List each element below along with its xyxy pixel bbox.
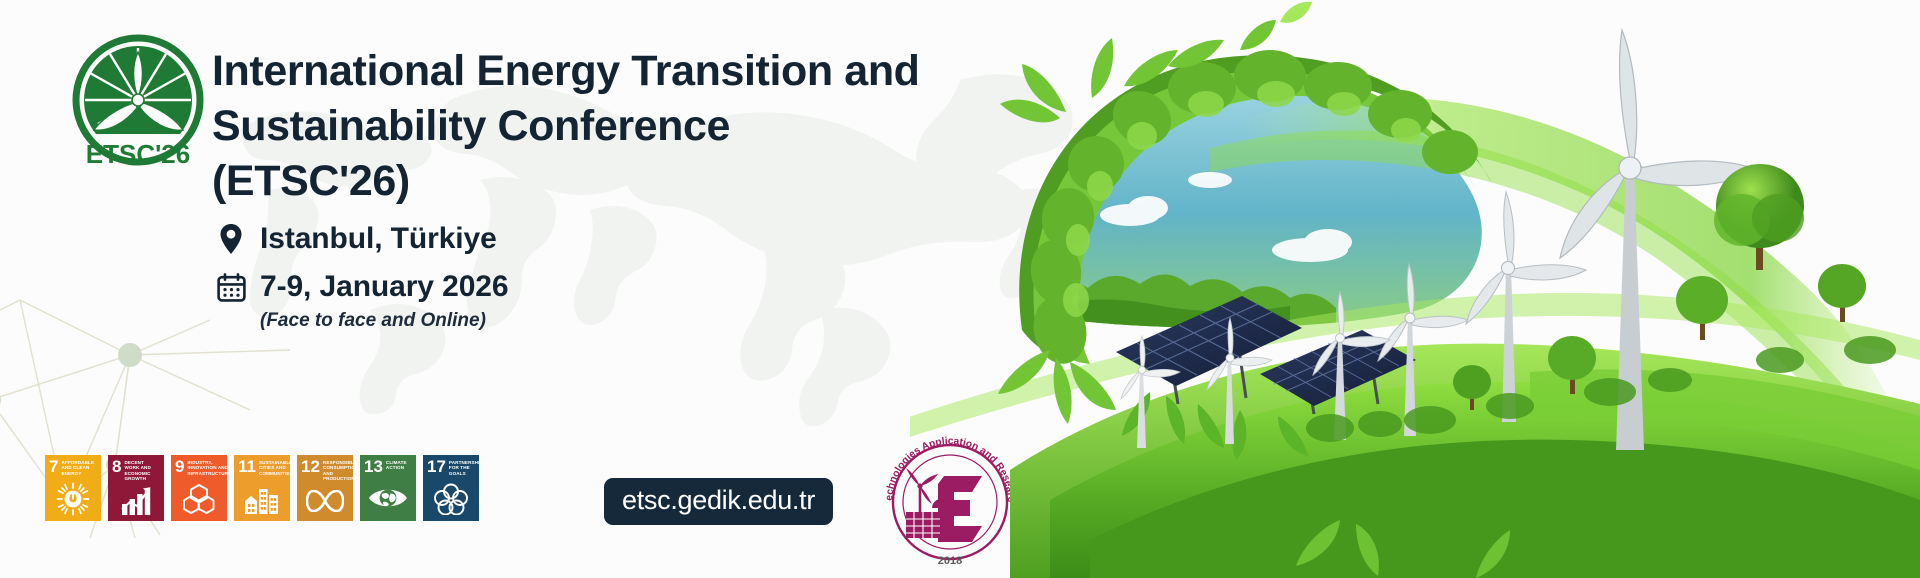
wind-turbine-far-1 [1207,318,1272,444]
foreground-foliage [1296,520,1510,578]
gedik-ring-text-top: İstanbul Gedik University [1053,430,1168,469]
etsc-logo-text: ETSC'26 [86,139,190,169]
cubes-icon [175,476,223,521]
green-light-streak [1240,97,1920,520]
sdg-label: CLIMATE ACTION [386,459,412,471]
wind-turbine-mid-3 [1313,292,1390,440]
format-note: (Face to face and Online) [260,310,508,332]
sdg-goal-8: 8 DECENT WORK AND ECONOMIC GROWTH [108,455,164,521]
sdg-goal-7: 7 AFFORDABLE AND CLEAN ENERGY [45,455,101,521]
energy-technologies-application-and-research-center-logo: Energy Technologies Application and Rese… [876,424,1024,572]
trees [1306,164,1896,442]
interlocking-circles-icon [427,476,475,521]
solar-panel-2 [1260,330,1416,406]
sdg-goals-row: 7 AFFORDABLE AND CLEAN ENERGY [45,455,479,521]
solar-panel-array [1116,296,1416,414]
title-line-1: International Energy Transition and [212,44,952,99]
sun-power-icon [49,476,97,521]
infinity-icon [301,482,349,521]
sdg-number: 7 [49,459,58,475]
sdg-label: AFFORDABLE AND CLEAN ENERGY [61,459,97,476]
website-url-badge[interactable]: etsc.gedik.edu.tr [604,478,833,525]
sdg-number: 12 [301,459,320,475]
date-text: 7-9, January 2026 [260,270,508,304]
wind-turbine-mid-1 [1466,192,1586,422]
sdg-label: DECENT WORK AND ECONOMIC GROWTH [124,459,160,482]
title-line-2: Sustainability Conference [212,99,952,154]
gedik-g-monogram [1086,464,1136,525]
solar-panel-1 [1116,296,1302,386]
page-title: International Energy Transition and Sust… [212,44,952,209]
sdg-label: SUSTAINABLE CITIES AND COMMUNITIES [259,459,293,476]
growth-chart-icon [112,482,160,521]
wind-turbine-mid-2 [1378,264,1468,436]
sdg-number: 8 [112,459,121,475]
sdg-number: 9 [175,459,184,475]
calendar-icon [216,270,246,304]
sdg-goal-12: 12 RESPONSIBLE CONSUMPTION AND PRODUCTIO… [297,455,353,521]
eye-globe-icon [364,475,412,521]
svg-text:İstanbul Gedik University: İstanbul Gedik University [1053,430,1168,469]
istanbul-gedik-university-logo: İstanbul Gedik University İstanbul Gedik… [1036,420,1186,570]
sdg-goal-11: 11 SUSTAINABLE CITIES AND COMMUNITIES [234,455,290,521]
wind-turbine-group [1121,30,1758,450]
location-pin-icon [216,222,246,256]
foliage-arch [998,2,1492,424]
wind-turbine-large [1560,30,1758,450]
city-buildings-icon [238,476,286,521]
sdg-label: INDUSTRY, INNOVATION AND INFRASTRUCTURE [187,459,231,476]
title-line-3: (ETSC'26) [212,154,952,209]
conference-banner: ETSC'26 International Energy Transition … [0,0,1920,578]
sdg-goal-17: 17 PARTNERSHIPS FOR THE GOALS [423,455,479,521]
etarc-year: 2018 [938,555,962,567]
location-text: Istanbul, Türkiye [260,222,497,256]
sprouting-leaves [998,20,1276,424]
etarc-emblem [906,468,982,542]
location-row: Istanbul, Türkiye [216,222,508,256]
sdg-goal-13: 13 CLIMATE ACTION [360,455,416,521]
etsc-logo: ETSC'26 [62,28,214,180]
conference-meta: Istanbul, Türkiye 7-9, January 2026 (Fac… [216,222,508,332]
date-row: 7-9, January 2026 [216,270,508,304]
gedik-year: 2010 [1097,523,1124,534]
sdg-number: 17 [427,459,446,475]
sdg-label: RESPONSIBLE CONSUMPTION AND PRODUCTION [323,459,359,482]
sdg-number: 11 [238,459,256,475]
sdg-goal-9: 9 INDUSTRY, INNOVATION AND INFRASTRUCTUR… [171,455,227,521]
sdg-label: PARTNERSHIPS FOR THE GOALS [449,459,486,476]
sdg-number: 13 [364,459,383,475]
